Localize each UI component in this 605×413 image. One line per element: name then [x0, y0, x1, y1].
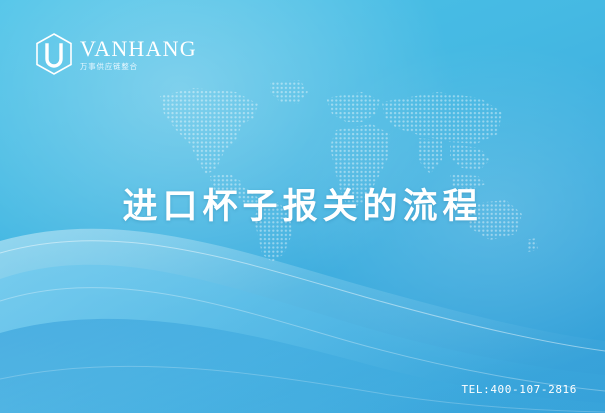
hexagon-u-logo-icon	[35, 33, 73, 75]
brand-tagline: 万事供应链整合	[80, 63, 187, 70]
page-title: 进口杯子报关的流程	[0, 178, 605, 229]
brand-logo: VANHANG 万事供应链整合	[35, 33, 197, 75]
brand-text: VANHANG 万事供应链整合	[80, 38, 197, 71]
dotted-world-map	[150, 78, 540, 263]
slide-canvas: VANHANG 万事供应链整合 进口杯子报关的流程	[0, 0, 605, 413]
brand-name: VANHANG	[80, 38, 197, 60]
contact-phone: TEL:400-107-2816	[461, 383, 577, 396]
